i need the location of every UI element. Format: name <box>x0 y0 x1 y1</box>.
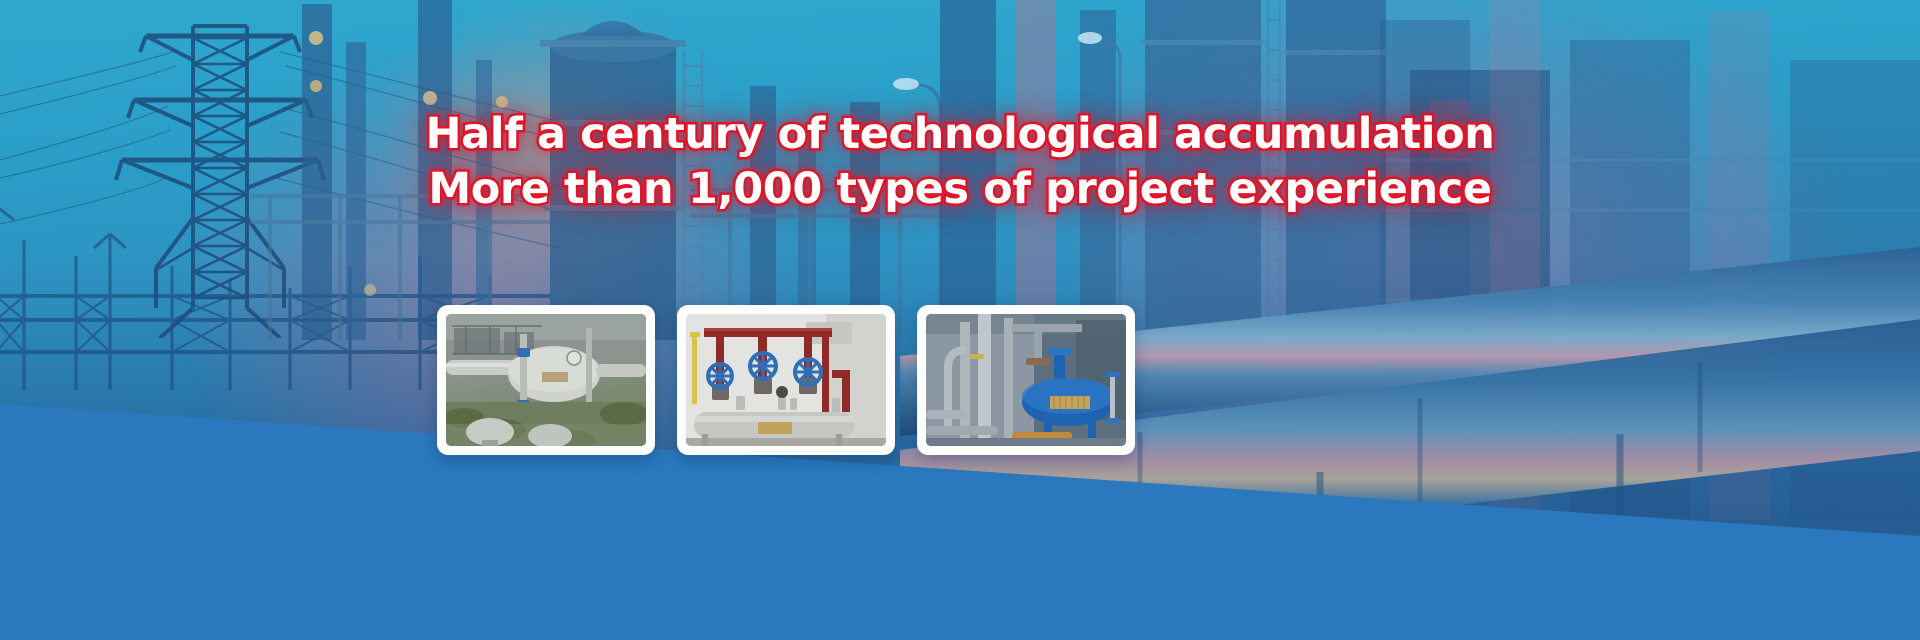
headline-line-1: Half a century of technological accumula… <box>0 112 1920 158</box>
project-photo-cards: Stainless steel horizontal separator ves… <box>437 305 1135 455</box>
blue-vessel-illustration <box>926 314 1126 446</box>
separator-vessel-illustration <box>446 314 646 446</box>
project-photo-1: Stainless steel horizontal separator ves… <box>446 314 646 446</box>
project-photo-3: Blue pressure vessel with gauge panel in… <box>926 314 1126 446</box>
project-photo-2: Red painted manifold piping with blue ha… <box>686 314 886 446</box>
red-manifold-skid-illustration <box>686 314 886 446</box>
headline-line-2: More than 1,000 types of project experie… <box>0 167 1920 213</box>
hero-banner: Half a century of technological accumula… <box>0 0 1920 640</box>
headline: Half a century of technological accumula… <box>0 112 1920 212</box>
project-card-1[interactable]: Stainless steel horizontal separator ves… <box>437 305 655 455</box>
project-card-3[interactable]: Blue pressure vessel with gauge panel in… <box>917 305 1135 455</box>
project-card-2[interactable]: Red painted manifold piping with blue ha… <box>677 305 895 455</box>
